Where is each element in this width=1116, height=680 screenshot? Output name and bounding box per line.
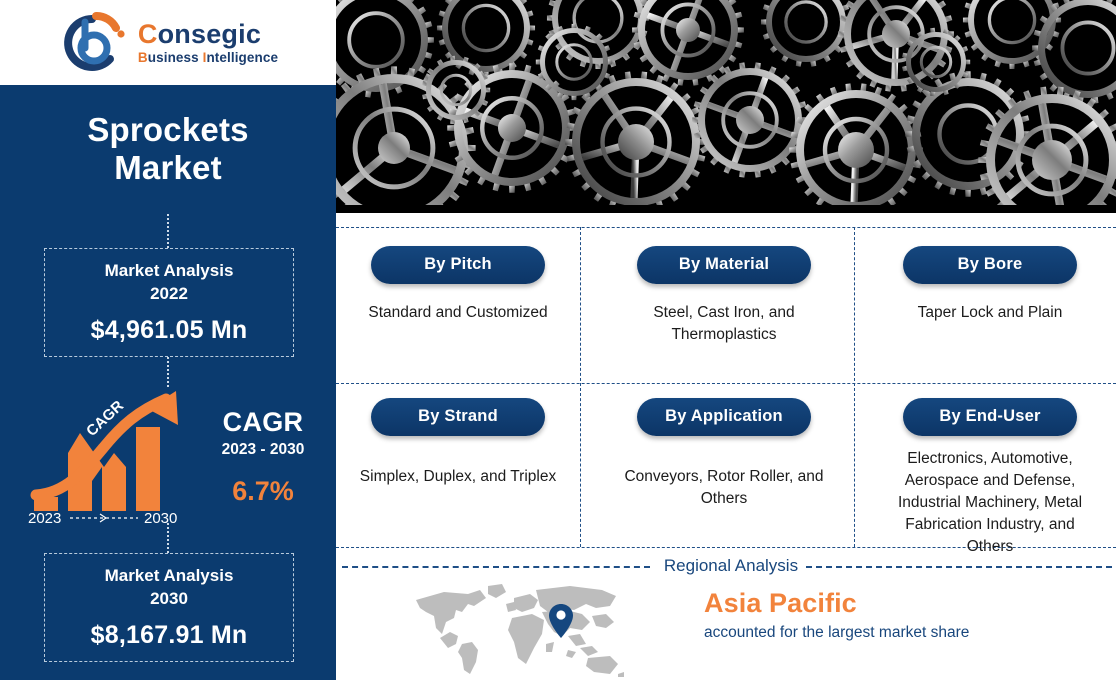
market-analysis-2030-value: $8,167.91 Mn xyxy=(45,621,293,650)
segment-badge-by-bore[interactable]: By Bore xyxy=(903,246,1077,284)
cagr-value: 6.7% xyxy=(193,476,333,507)
market-analysis-2030-label-line2: 2030 xyxy=(45,588,293,610)
brand-name-initial: C xyxy=(138,19,158,49)
page-title-line2: Market xyxy=(0,149,336,187)
segment-desc-by-material: Steel, Cast Iron, and Thermoplastics xyxy=(624,302,824,346)
brand-tagline-b: B xyxy=(138,50,148,65)
brand-logo[interactable]: Consegic Business Intelligence xyxy=(58,12,278,74)
brand-tagline-rest1: usiness xyxy=(148,50,203,65)
segment-by-bore[interactable]: By Bore Taper Lock and Plain xyxy=(890,246,1090,324)
location-pin-icon xyxy=(549,604,573,638)
market-analysis-2022-label-line1: Market Analysis xyxy=(45,260,293,282)
grid-divider-top xyxy=(336,227,1116,228)
market-analysis-2022-value: $4,961.05 Mn xyxy=(45,316,293,345)
segment-by-end-user[interactable]: By End-User Electronics, Automotive, Aer… xyxy=(890,398,1090,558)
connector-dotted-3 xyxy=(167,523,169,553)
segment-desc-by-bore: Taper Lock and Plain xyxy=(890,302,1090,324)
segment-badge-by-end-user[interactable]: By End-User xyxy=(903,398,1077,436)
brand-name-rest: onsegic xyxy=(158,19,261,49)
logo-bar: Consegic Business Intelligence xyxy=(0,0,336,85)
market-analysis-2022-box: Market Analysis 2022 $4,961.05 Mn xyxy=(44,248,294,357)
regional-analysis-title: Regional Analysis xyxy=(658,556,804,576)
segment-by-material[interactable]: By Material Steel, Cast Iron, and Thermo… xyxy=(624,246,824,346)
segment-by-strand[interactable]: By Strand Simplex, Duplex, and Triplex xyxy=(358,398,558,488)
segment-grid: By Pitch Standard and Customized By Mate… xyxy=(336,213,1116,548)
regional-note: accounted for the largest market share xyxy=(704,623,1004,644)
page-title-line1: Sprockets xyxy=(0,111,336,149)
segment-desc-by-end-user: Electronics, Automotive, Aerospace and D… xyxy=(890,448,1090,558)
cagr-years: 2023 - 2030 xyxy=(193,441,333,459)
regional-highlight: Asia Pacific accounted for the largest m… xyxy=(704,588,1004,644)
cagr-info: CAGR 2023 - 2030 6.7% xyxy=(193,407,333,507)
cagr-axis-end: 2030 xyxy=(144,510,177,525)
sidebar: Sprockets Market Market Analysis 2022 $4… xyxy=(0,85,336,680)
infographic-page: Consegic Business Intelligence Sprockets… xyxy=(0,0,1116,680)
consegic-b-logo-icon xyxy=(58,12,130,74)
grid-divider-vertical-1 xyxy=(580,227,581,547)
cagr-axis-start: 2023 xyxy=(28,510,61,525)
grid-divider-vertical-2 xyxy=(854,227,855,547)
segment-by-pitch[interactable]: By Pitch Standard and Customized xyxy=(358,246,558,324)
brand-tagline-rest2: ntelligence xyxy=(206,50,278,65)
brand-name: Consegic xyxy=(138,21,278,48)
regional-analysis-section: Regional Analysis xyxy=(336,548,1116,680)
segment-badge-by-pitch[interactable]: By Pitch xyxy=(371,246,545,284)
regional-rule-right xyxy=(806,566,1112,568)
segment-by-application[interactable]: By Application Conveyors, Rotor Roller, … xyxy=(624,398,824,510)
gears-illustration xyxy=(336,0,1116,213)
connector-dotted-2 xyxy=(167,357,169,387)
segment-badge-by-material[interactable]: By Material xyxy=(637,246,811,284)
market-analysis-2022-label-line2: 2022 xyxy=(45,283,293,305)
segment-desc-by-application: Conveyors, Rotor Roller, and Others xyxy=(624,466,824,510)
regional-leading-region: Asia Pacific xyxy=(704,588,1004,619)
cagr-growth-chart-icon: CAGR 2023 2030 xyxy=(26,389,206,525)
connector-dotted-1 xyxy=(167,214,169,248)
world-map-icon xyxy=(410,582,630,678)
segment-desc-by-strand: Simplex, Duplex, and Triplex xyxy=(358,466,558,488)
segment-badge-by-application[interactable]: By Application xyxy=(637,398,811,436)
grid-divider-middle xyxy=(336,383,1116,384)
page-title: Sprockets Market xyxy=(0,111,336,188)
segment-desc-by-pitch: Standard and Customized xyxy=(358,302,558,324)
cagr-heading: CAGR xyxy=(193,407,333,438)
cagr-block: CAGR 2023 2030 CAGR 2023 - 2030 6.7% xyxy=(0,385,336,525)
market-analysis-2022-label: Market Analysis 2022 xyxy=(45,260,293,304)
market-analysis-2030-label-line1: Market Analysis xyxy=(45,565,293,587)
gears-banner-image xyxy=(336,0,1116,213)
market-analysis-2030-box: Market Analysis 2030 $8,167.91 Mn xyxy=(44,553,294,662)
brand-wordmark: Consegic Business Intelligence xyxy=(138,21,278,65)
segment-badge-by-strand[interactable]: By Strand xyxy=(371,398,545,436)
brand-tagline: Business Intelligence xyxy=(138,51,278,65)
regional-rule-left xyxy=(342,566,650,568)
market-analysis-2030-label: Market Analysis 2030 xyxy=(45,565,293,609)
